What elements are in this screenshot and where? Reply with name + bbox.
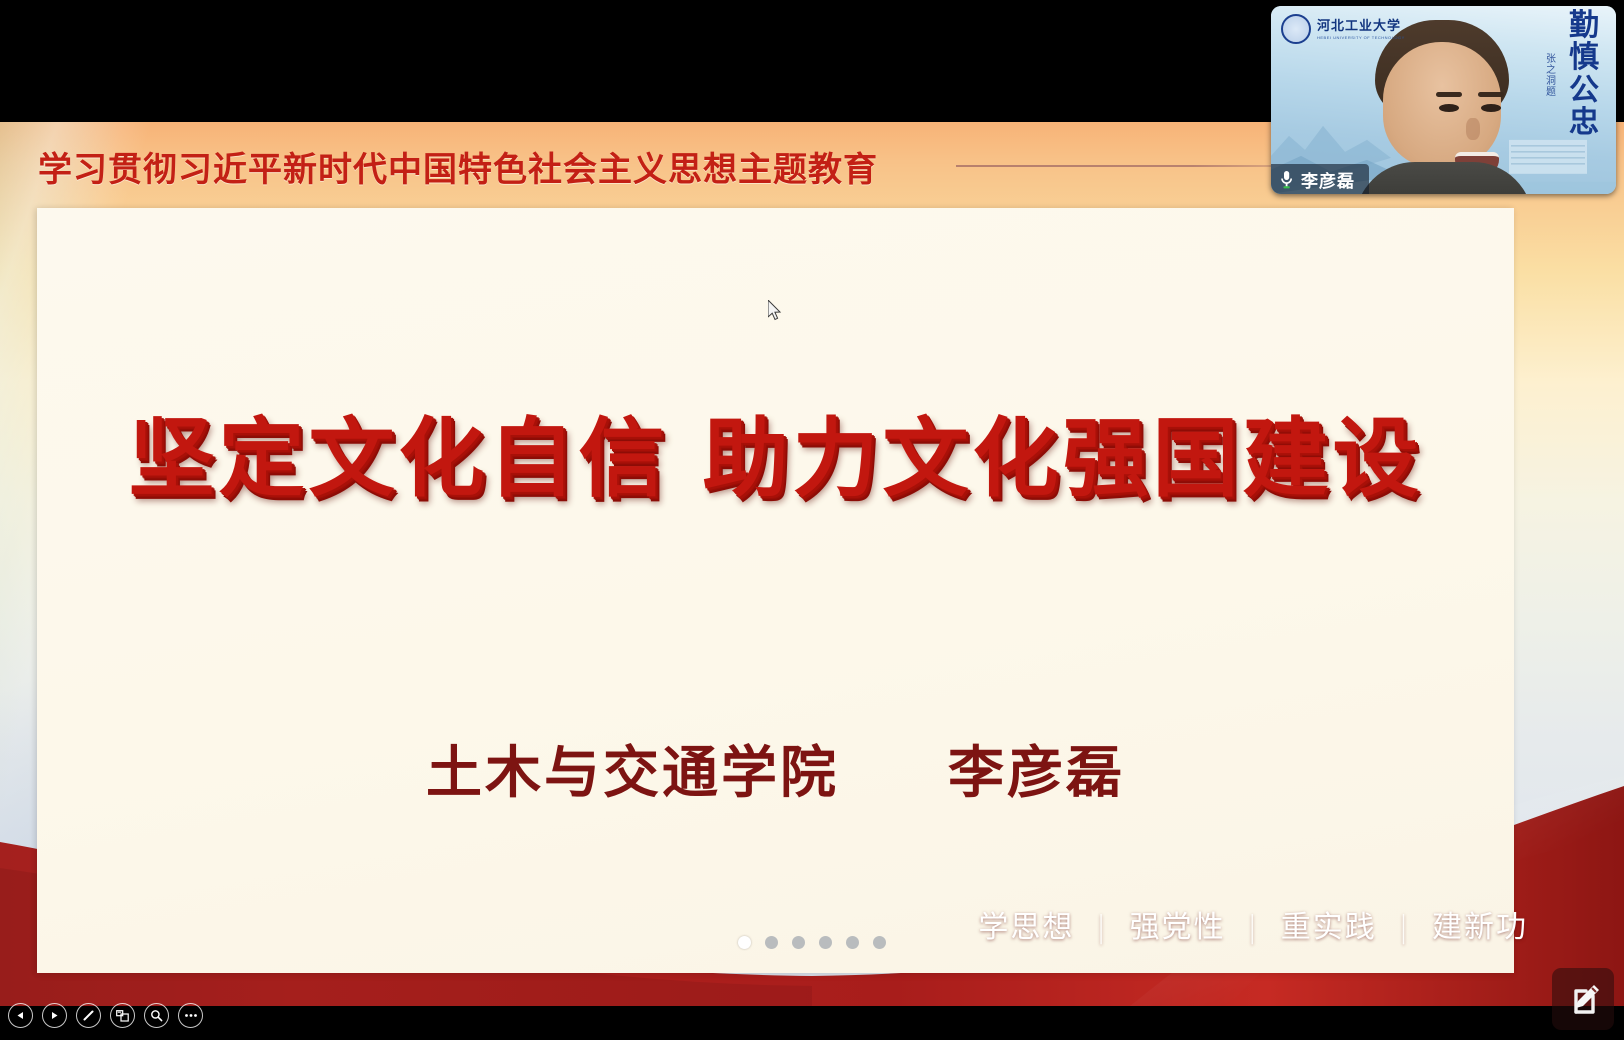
presenter-name: 李彦磊	[948, 740, 1125, 806]
motto-char: 慎	[1562, 42, 1606, 74]
university-logo-text: 河北工业大学 HEBEI UNIVERSITY OF TECHNOLOGY	[1317, 18, 1405, 40]
pagination-dot-5[interactable]	[846, 936, 859, 949]
motto-char: 忠	[1562, 107, 1606, 139]
participant-nameplate: 李彦磊	[1271, 164, 1369, 194]
motto-char: 公	[1562, 75, 1606, 107]
pen-annotate-button[interactable]	[76, 1003, 101, 1028]
signature-char: 张	[1542, 54, 1560, 65]
pen-icon	[82, 1009, 95, 1022]
participant-name: 李彦磊	[1301, 167, 1355, 192]
motto-signature: 张之洞题	[1542, 54, 1560, 98]
header-divider-line	[956, 165, 1294, 167]
participant-video-tile[interactable]: 河北工业大学 HEBEI UNIVERSITY OF TECHNOLOGY 勤慎…	[1271, 6, 1616, 194]
portrait-shoulders	[1355, 162, 1533, 194]
magnifier-icon	[150, 1009, 163, 1022]
university-name-cn: 河北工业大学	[1317, 19, 1401, 34]
triangle-left-icon	[16, 1011, 25, 1020]
slide-stage[interactable]: 学习贯彻习近平新时代中国特色社会主义思想主题教育 坚定文化自信 助力文化强国建设…	[0, 122, 1624, 1006]
university-name-en: HEBEI UNIVERSITY OF TECHNOLOGY	[1317, 36, 1405, 40]
university-seal-icon	[1281, 14, 1311, 44]
pagination-dot-1[interactable]	[738, 936, 751, 949]
portrait-nose	[1466, 118, 1480, 140]
pencil-note-icon	[1563, 979, 1603, 1019]
annotate-floating-button[interactable]	[1552, 968, 1614, 1030]
motto-char: 勤	[1562, 10, 1606, 42]
mouse-cursor	[768, 300, 784, 322]
slide-toolbar[interactable]	[8, 1003, 203, 1028]
more-options-button[interactable]	[178, 1003, 203, 1028]
slide-content-card: 坚定文化自信 助力文化强国建设 土木与交通学院 李彦磊	[37, 208, 1514, 973]
zoom-button[interactable]	[144, 1003, 169, 1028]
pagination-dot-2[interactable]	[765, 936, 778, 949]
previous-slide-button[interactable]	[8, 1003, 33, 1028]
next-slide-button[interactable]	[42, 1003, 67, 1028]
presenter-line: 土木与交通学院 李彦磊	[37, 728, 1514, 809]
slide-overview-button[interactable]	[110, 1003, 135, 1028]
university-motto-calligraphy: 勤慎公忠	[1562, 10, 1606, 140]
portrait-eye-right	[1481, 104, 1501, 112]
signature-char: 题	[1542, 87, 1560, 98]
portrait-face	[1383, 42, 1501, 168]
university-logo: 河北工业大学 HEBEI UNIVERSITY OF TECHNOLOGY	[1281, 14, 1405, 44]
pagination-dot-3[interactable]	[792, 936, 805, 949]
slide-main-title: 坚定文化自信 助力文化强国建设	[37, 388, 1514, 513]
ellipsis-icon	[184, 1013, 198, 1018]
slide-pagination[interactable]	[0, 936, 1624, 949]
signature-char: 洞	[1542, 76, 1560, 87]
microphone-icon	[1279, 169, 1294, 189]
grid-slides-icon	[116, 1010, 129, 1022]
motto-char-1: 勤慎公忠	[1562, 10, 1606, 140]
screen-share-view: 学习贯彻习近平新时代中国特色社会主义思想主题教育 坚定文化自信 助力文化强国建设…	[0, 0, 1624, 1040]
participant-portrait	[1349, 20, 1539, 194]
portrait-eye-left	[1439, 104, 1459, 112]
triangle-right-icon	[50, 1011, 59, 1020]
portrait-brow-left	[1436, 92, 1462, 97]
portrait-brow-right	[1478, 92, 1504, 97]
pagination-dot-6[interactable]	[873, 936, 886, 949]
pagination-dot-4[interactable]	[819, 936, 832, 949]
presenter-department: 土木与交通学院	[426, 740, 839, 806]
signature-char: 之	[1542, 65, 1560, 76]
header-title: 学习贯彻习近平新时代中国特色社会主义思想主题教育	[38, 142, 878, 191]
